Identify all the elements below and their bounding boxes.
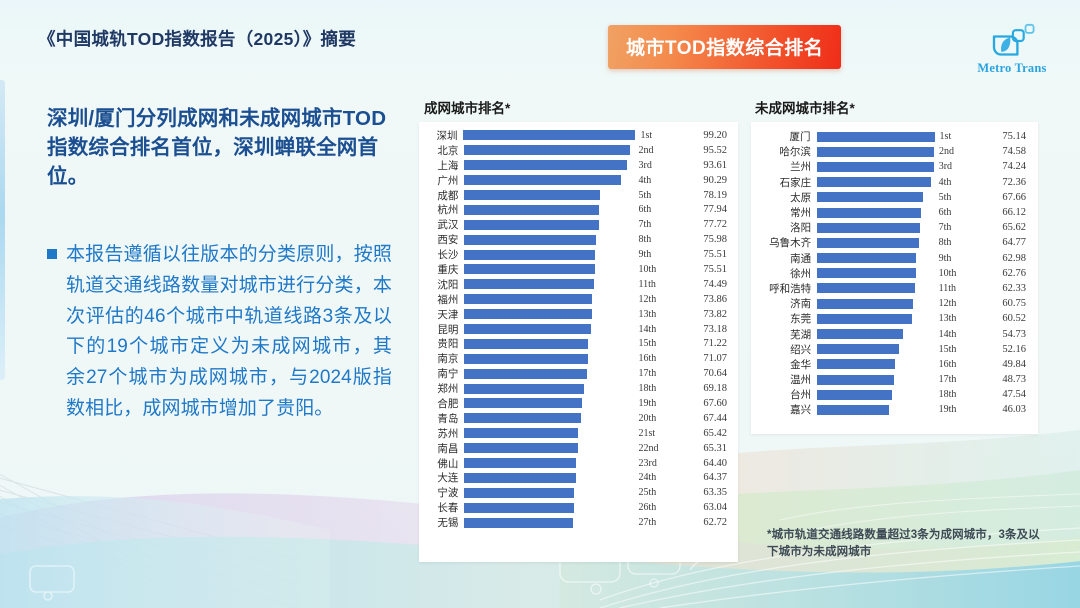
chart-row-bar [817,390,892,400]
chart-row: 温州17th48.73 [751,372,1038,387]
chart-row-bar-track [464,322,633,337]
chart-row-value: 74.24 [976,161,1038,172]
chart-row-value: 60.75 [976,298,1038,309]
chart-row-bar-track [464,470,633,485]
chart-row-value: 95.52 [670,145,738,156]
chart-row-value: 65.42 [670,428,738,439]
chart-row-city: 深圳 [419,128,463,143]
chart-row-rank: 11th [634,279,670,290]
chart-row-city: 无锡 [419,515,464,530]
logo-text: Metro Trans [977,61,1046,76]
chart-row: 长春26th63.04 [419,500,738,515]
chart-row-rank: 22nd [634,443,670,454]
chart-row-rank: 6th [634,204,670,215]
chart-row: 西安8th75.98 [419,232,738,247]
chart-row-bar [464,384,584,394]
chart-row-bar [464,235,596,245]
chart-row-city: 青岛 [419,411,464,426]
chart-row-rank: 8th [934,237,976,248]
chart-row-city: 南宁 [419,366,464,381]
chart-row-city: 西安 [419,232,464,247]
chart-row-value: 71.22 [670,338,738,349]
chart-row-rank: 23rd [634,458,670,469]
chart-row-city: 广州 [419,173,464,188]
chart-row: 大连24th64.37 [419,470,738,485]
chart-row-rank: 15th [934,344,976,355]
chart-row-city: 长春 [419,500,464,515]
chart-row: 杭州6th77.94 [419,202,738,217]
chart-row-bar-track [817,357,933,372]
chart-row-city: 洛阳 [751,220,817,235]
chart-row-rank: 4th [634,175,670,186]
chart-row-bar [464,145,630,155]
chart-row-rank: 13th [634,309,670,320]
chart-row-bar [463,130,635,140]
chart-row-bar-track [464,277,633,292]
chart-row: 长沙9th75.51 [419,247,738,262]
chart-row-rank: 14th [934,329,976,340]
chart-row-bar [464,160,626,170]
chart-row-bar-track [464,307,633,322]
chart-row-bar-track [464,173,633,188]
chart-row-rank: 13th [934,313,976,324]
chart-row-rank: 9th [634,249,670,260]
chart-row-rank: 7th [934,222,976,233]
chart-row-value: 62.98 [976,253,1038,264]
chart-row-bar-track [817,144,934,159]
chart-row-value: 63.35 [670,487,738,498]
chart-row-rank: 2nd [934,146,976,157]
chart-row-rank: 8th [634,234,670,245]
section-badge: 城市TOD指数综合排名 [608,25,841,69]
chart-row-city: 佛山 [419,456,464,471]
chart-row-bar-track [817,402,933,417]
chart-row-bar-track [817,205,933,220]
chart-row-value: 48.73 [976,374,1038,385]
chart-row-bar [464,488,574,498]
chart-row-city: 武汉 [419,217,464,232]
chart-row-bar-track [464,158,633,173]
chart-row: 福州12th73.86 [419,292,738,307]
chart-row: 兰州3rd74.24 [751,159,1038,174]
chart-row: 嘉兴19th46.03 [751,402,1038,417]
chart-row-value: 60.52 [976,313,1038,324]
chart-row: 洛阳7th65.62 [751,220,1038,235]
headline: 深圳/厦门分列成网和未成网城市TOD指数综合排名首位，深圳蝉联全网首位。 [47,104,387,191]
chart-row: 南宁17th70.64 [419,366,738,381]
chart-row-rank: 9th [934,253,976,264]
bullet-block: 本报告遵循以往版本的分类原则，按照轨道交通线路数量对城市进行分类，本次评估的46… [47,240,392,425]
chart-row-city: 上海 [419,158,464,173]
chart-row-rank: 4th [934,177,976,188]
chart-row-bar-track [817,129,935,144]
chart-row: 南京16th71.07 [419,351,738,366]
chart-row-rank: 5th [634,190,670,201]
chart-row-city: 南京 [419,351,464,366]
chart-row-bar-track [464,351,633,366]
chart-row: 武汉7th77.72 [419,217,738,232]
chart-row: 太原5th67.66 [751,190,1038,205]
chart-row-bar [817,314,912,324]
chart-row-bar [817,268,916,278]
metro-trans-logo-icon [985,22,1039,60]
chart-row-value: 65.31 [670,443,738,454]
chart-row-rank: 1st [935,131,977,142]
chart-row-value: 49.84 [976,359,1038,370]
chart-row-bar-track [464,500,633,515]
chart-row: 佛山23rd64.40 [419,456,738,471]
chart-row-bar-track [463,128,635,143]
chart-row-bar [464,324,591,334]
chart-card-non-networked: 厦门1st75.14哈尔滨2nd74.58兰州3rd74.24石家庄4th72.… [751,122,1038,434]
chart-row-rank: 7th [634,219,670,230]
bullet-square-icon [47,249,57,259]
chart-row-bar [464,428,577,438]
chart-row-city: 合肥 [419,396,464,411]
chart-row-value: 62.33 [976,283,1038,294]
chart-row-bar [817,208,921,218]
chart-row-value: 62.72 [670,517,738,528]
chart-row-bar [817,359,895,369]
chart-row-rank: 19th [934,404,976,415]
chart-row-value: 64.37 [670,472,738,483]
chart-row-bar [464,220,599,230]
chart-row-value: 77.94 [670,204,738,215]
chart-row: 金华16th49.84 [751,357,1038,372]
chart-row-city: 郑州 [419,381,464,396]
brand-logo: Metro Trans [958,22,1066,84]
chart-row-bar [464,398,581,408]
chart-row: 郑州18th69.18 [419,381,738,396]
chart-row-bar-track [464,396,633,411]
chart-row-bar [464,458,576,468]
chart-row-bar-track [817,190,933,205]
chart-row-city: 长沙 [419,247,464,262]
chart-row-city: 宁波 [419,485,464,500]
chart-row: 绍兴15th52.16 [751,342,1038,357]
chart-row-rank: 12th [634,294,670,305]
chart-row-bar [817,375,894,385]
chart-row-bar-track [464,143,633,158]
chart-row-bar-track [817,159,934,174]
chart-row-rank: 10th [634,264,670,275]
chart-row-city: 常州 [751,205,817,220]
chart-row-bar-track [817,326,933,341]
chart-row-bar [464,503,573,513]
chart-row: 徐州10th62.76 [751,266,1038,281]
chart-row-bar [464,413,581,423]
chart-row: 济南12th60.75 [751,296,1038,311]
chart-row-value: 99.20 [671,130,738,141]
chart-row: 成都5th78.19 [419,188,738,203]
chart-row-bar [464,339,588,349]
chart-row-city: 乌鲁木齐 [751,235,817,250]
chart-row: 广州4th90.29 [419,173,738,188]
chart-row-bar-track [817,372,933,387]
chart-row: 台州18th47.54 [751,387,1038,402]
chart-row-city: 石家庄 [751,175,817,190]
chart-row-bar [817,299,912,309]
chart-row-value: 74.58 [976,146,1038,157]
chart-row-value: 75.51 [670,249,738,260]
chart-row-value: 46.03 [976,404,1038,415]
chart-row: 石家庄4th72.36 [751,175,1038,190]
chart-row-city: 金华 [751,357,817,372]
chart-row: 厦门1st75.14 [751,129,1038,144]
chart-row-bar [464,354,587,364]
chart-row-rank: 15th [634,338,670,349]
left-accent-bar [0,80,5,380]
chart-row-bar-track [817,175,933,190]
chart-row-bar-track [464,485,633,500]
chart-row-city: 哈尔滨 [751,144,817,159]
chart-row: 无锡27th62.72 [419,515,738,530]
chart-row-rank: 17th [634,368,670,379]
chart-row-bar [817,344,899,354]
chart-row-value: 64.77 [976,237,1038,248]
chart-rows-networked: 深圳1st99.20北京2nd95.52上海3rd93.61广州4th90.29… [419,122,738,534]
document-title: 《中国城轨TOD指数报告（2025）》摘要 [38,26,356,51]
chart-row-rank: 18th [634,383,670,394]
chart-row-value: 62.76 [976,268,1038,279]
chart-row-rank: 2nd [634,145,670,156]
chart-row-rank: 16th [934,359,976,370]
chart-row-rank: 26th [634,502,670,513]
chart-row-city: 苏州 [419,426,464,441]
chart-row-value: 75.98 [670,234,738,245]
chart-row-value: 47.54 [976,389,1038,400]
chart-row-bar-track [817,296,933,311]
chart-row-bar-track [464,292,633,307]
chart-row-bar-track [464,456,633,471]
chart-row-bar [817,253,916,263]
chart-row-bar [464,294,592,304]
chart-row-value: 77.72 [670,219,738,230]
chart-row: 上海3rd93.61 [419,158,738,173]
chart-card-networked: 深圳1st99.20北京2nd95.52上海3rd93.61广州4th90.29… [419,122,738,562]
chart-row-bar-track [817,251,933,266]
chart-row-city: 呼和浩特 [751,281,817,296]
chart-row-bar [464,205,599,215]
chart-row-city: 厦门 [751,129,817,144]
chart-row-bar-track [817,266,933,281]
chart-row-value: 75.51 [670,264,738,275]
chart-row-rank: 25th [634,487,670,498]
chart-row-bar [464,264,595,274]
chart-row-bar-track [464,188,633,203]
chart-row-bar-track [817,281,933,296]
bullet-text: 本报告遵循以往版本的分类原则，按照轨道交通线路数量对城市进行分类，本次评估的46… [66,240,392,425]
chart-row-bar [464,473,576,483]
chart-row-city: 北京 [419,143,464,158]
chart-row-bar [464,190,600,200]
chart-row-bar-track [464,262,633,277]
chart-row-city: 嘉兴 [751,402,817,417]
chart-row-rank: 16th [634,353,670,364]
chart-row-city: 绍兴 [751,342,817,357]
chart-row-value: 90.29 [670,175,738,186]
chart-row: 天津13th73.82 [419,307,738,322]
chart-row-bar [464,369,587,379]
chart-row-bar-track [464,426,633,441]
chart-row-bar [464,309,592,319]
chart-row: 苏州21st65.42 [419,426,738,441]
chart-row-bar [817,405,889,415]
chart-row-bar-track [464,336,633,351]
chart-row-city: 昆明 [419,322,464,337]
chart-row: 东莞13th60.52 [751,311,1038,326]
chart-row-bar-track [817,220,933,235]
chart-row-city: 大连 [419,470,464,485]
chart-row-city: 福州 [419,292,464,307]
chart-row-bar-track [464,232,633,247]
chart-row-value: 67.66 [976,192,1038,203]
chart-row-city: 重庆 [419,262,464,277]
chart-row: 合肥19th67.60 [419,396,738,411]
chart-row-value: 66.12 [976,207,1038,218]
chart-row-value: 78.19 [670,190,738,201]
footnote: *城市轨道交通线路数量超过3条为成网城市，3条及以下城市为未成网城市 [767,527,1042,562]
chart-row: 深圳1st99.20 [419,128,738,143]
chart-row-city: 太原 [751,190,817,205]
chart-row: 芜湖14th54.73 [751,326,1038,341]
chart-row-bar [817,238,919,248]
chart-row-rank: 19th [634,398,670,409]
chart-row-value: 93.61 [670,160,738,171]
chart-title-networked: 成网城市排名* [424,97,510,117]
chart-row-city: 杭州 [419,202,464,217]
chart-row-value: 74.49 [670,279,738,290]
chart-row-bar [817,283,915,293]
chart-row-rank: 6th [934,207,976,218]
chart-row-bar [817,177,931,187]
chart-row-city: 贵阳 [419,336,464,351]
chart-row-rank: 12th [934,298,976,309]
chart-row: 贵阳15th71.22 [419,336,738,351]
chart-row-city: 台州 [751,387,817,402]
chart-row-value: 75.14 [976,131,1038,142]
chart-row: 重庆10th75.51 [419,262,738,277]
chart-row-bar [464,250,595,260]
chart-row-bar-track [464,202,633,217]
chart-row-bar [464,443,577,453]
chart-row-bar-track [464,247,633,262]
chart-row-bar-track [817,387,933,402]
chart-row-bar [464,279,593,289]
chart-row-city: 芜湖 [751,327,817,342]
chart-row-rank: 18th [934,389,976,400]
chart-row-rank: 24th [634,472,670,483]
chart-row-rank: 3rd [634,160,670,171]
chart-row-bar [464,175,621,185]
chart-row-value: 71.07 [670,353,738,364]
chart-row-value: 54.73 [976,329,1038,340]
chart-row-value: 63.04 [670,502,738,513]
chart-row-city: 东莞 [751,311,817,326]
chart-row-rank: 3rd [934,161,976,172]
chart-row-bar-track [817,311,933,326]
chart-row-value: 64.40 [670,458,738,469]
chart-row-bar [464,518,573,528]
chart-row-city: 徐州 [751,266,817,281]
chart-row: 昆明14th73.18 [419,322,738,337]
chart-row-bar-track [464,366,633,381]
chart-row: 青岛20th67.44 [419,411,738,426]
chart-row-bar-track [817,342,933,357]
chart-row-city: 济南 [751,296,817,311]
chart-row-city: 南昌 [419,441,464,456]
chart-row-city: 兰州 [751,159,817,174]
chart-row-value: 65.62 [976,222,1038,233]
chart-row-value: 69.18 [670,383,738,394]
chart-row: 南通9th62.98 [751,251,1038,266]
chart-row-rank: 11th [934,283,976,294]
chart-row-rank: 10th [934,268,976,279]
chart-row-bar-track [464,441,633,456]
chart-row-rank: 17th [934,374,976,385]
chart-row: 常州6th66.12 [751,205,1038,220]
chart-row-city: 南通 [751,251,817,266]
chart-row-rank: 5th [934,192,976,203]
chart-row: 乌鲁木齐8th64.77 [751,235,1038,250]
slide-root: 《中国城轨TOD指数报告（2025）》摘要 城市TOD指数综合排名 Metro … [0,0,1080,608]
chart-row-city: 沈阳 [419,277,464,292]
chart-row-value: 70.64 [670,368,738,379]
chart-row: 北京2nd95.52 [419,143,738,158]
chart-row-rank: 20th [634,413,670,424]
chart-row-bar-track [464,381,633,396]
chart-row-rank: 1st [635,130,671,141]
chart-row-bar [817,223,920,233]
chart-row-bar [817,329,903,339]
chart-row: 沈阳11th74.49 [419,277,738,292]
chart-row-bar [817,147,934,157]
chart-title-non-networked: 未成网城市排名* [755,97,855,117]
chart-row-bar [817,132,935,142]
chart-row-city: 成都 [419,188,464,203]
chart-row-value: 73.86 [670,294,738,305]
chart-row-bar-track [817,235,933,250]
chart-row-bar [817,192,923,202]
chart-rows-non-networked: 厦门1st75.14哈尔滨2nd74.58兰州3rd74.24石家庄4th72.… [751,122,1038,422]
chart-row-bar-track [464,217,633,232]
chart-row-city: 温州 [751,372,817,387]
chart-row-rank: 14th [634,324,670,335]
chart-row-value: 73.82 [670,309,738,320]
chart-row: 宁波25th63.35 [419,485,738,500]
chart-row-value: 67.60 [670,398,738,409]
chart-row-bar-track [464,411,633,426]
chart-row-value: 73.18 [670,324,738,335]
chart-row-value: 67.44 [670,413,738,424]
chart-row-city: 天津 [419,307,464,322]
chart-row-rank: 27th [634,517,670,528]
chart-row: 哈尔滨2nd74.58 [751,144,1038,159]
chart-row-bar [817,162,934,172]
chart-row: 呼和浩特11th62.33 [751,281,1038,296]
chart-row: 南昌22nd65.31 [419,441,738,456]
chart-row-value: 52.16 [976,344,1038,355]
chart-row-bar-track [464,515,633,530]
chart-row-rank: 21st [634,428,670,439]
chart-row-value: 72.36 [976,177,1038,188]
